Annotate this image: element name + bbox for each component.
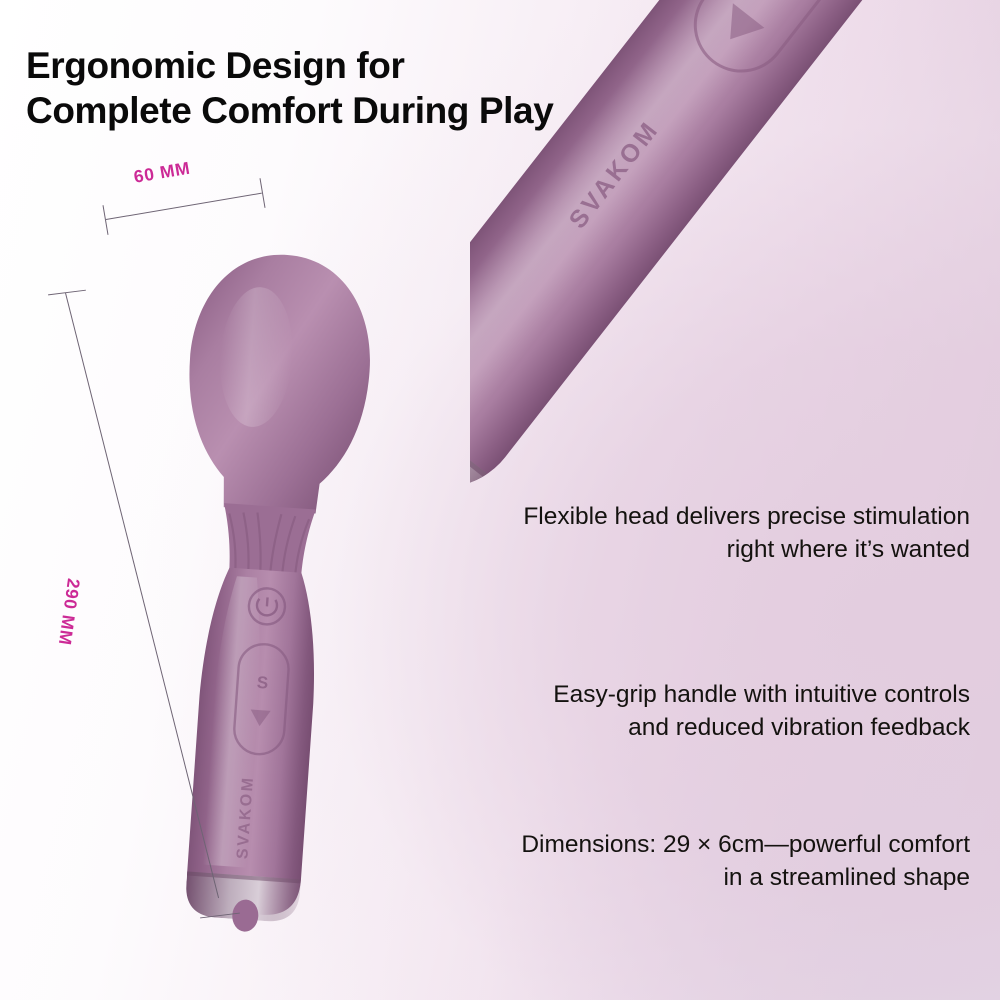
headline-line-2: Complete Comfort During Play (26, 88, 806, 133)
feature-text-easy-grip: Easy-grip handle with intuitive controls… (553, 678, 970, 745)
product-image-vertical-wand: S SVAKOM (140, 248, 400, 938)
infographic-canvas: Ergonomic Design for Complete Comfort Du… (0, 0, 1000, 1000)
feature-dimensions-line-1: Dimensions: 29 × 6cm—powerful comfort (521, 828, 970, 861)
height-dimension-label: 290 MM (54, 577, 84, 647)
feature-flexible-head-line-1: Flexible head delivers precise stimulati… (523, 500, 970, 533)
feature-text-flexible-head: Flexible head delivers precise stimulati… (523, 500, 970, 567)
width-dimension-line (106, 193, 262, 221)
feature-easy-grip-line-1: Easy-grip handle with intuitive controls (553, 678, 970, 711)
headline-line-1: Ergonomic Design for (26, 43, 806, 88)
svakom-s-logo-vertical: S (256, 673, 269, 693)
page-title: Ergonomic Design for Complete Comfort Du… (26, 43, 806, 133)
feature-flexible-head-line-2: right where it’s wanted (523, 533, 970, 566)
feature-dimensions-line-2: in a streamlined shape (521, 861, 970, 894)
width-dimension-label: 60 MM (132, 158, 192, 188)
feature-easy-grip-line-2: and reduced vibration feedback (553, 711, 970, 744)
feature-text-dimensions: Dimensions: 29 × 6cm—powerful comfort in… (521, 828, 970, 895)
power-button-icon-vertical (267, 597, 268, 606)
